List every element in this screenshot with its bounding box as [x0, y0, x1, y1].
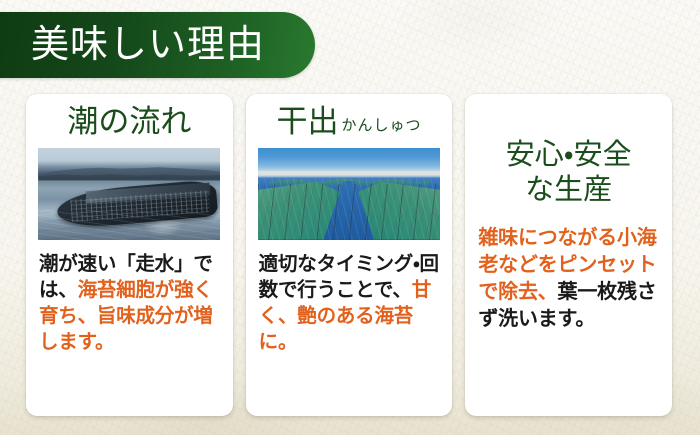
card-body-tide: 潮が速い「走水」では、海苔細胞が強く育ち、旨味成分が増します。	[39, 251, 221, 356]
feature-card-list: 潮の流れ 潮が速い「走水」では、海苔細胞が強く育ち、旨味成分が増します。 干出か…	[26, 94, 672, 416]
card-title-exposure-ruby: かんしゅつ	[342, 118, 422, 134]
card-title-safety-line2: な生産	[474, 173, 663, 208]
body-segment: 潮が速い「走水」	[39, 253, 193, 275]
nori-raft-photo	[38, 148, 220, 240]
card-title-safety-line1: 安心・安全	[474, 138, 663, 173]
nori-nets-photo	[258, 148, 440, 240]
horizon-haze	[258, 171, 440, 177]
card-body-exposure: 適切なタイミング・回数で行うことで、甘く、艶のある海苔に。	[259, 251, 441, 356]
feature-card-safety: 安心・安全な生産 雑味につながる小海老などをピンセットで除去、葉一枚残さず洗いま…	[465, 94, 672, 416]
page-title: 美味しい理由	[31, 26, 265, 64]
water-ripples	[38, 210, 220, 239]
header-banner: 美味しい理由	[0, 12, 315, 78]
feature-card-tide: 潮の流れ 潮が速い「走水」では、海苔細胞が強く育ち、旨味成分が増します。	[26, 94, 233, 416]
card-title-tide: 潮の流れ	[35, 106, 224, 139]
card-body-safety: 雑味につながる小海老などをピンセットで除去、葉一枚残さず洗います。	[478, 225, 660, 333]
card-title-exposure-text: 干出	[277, 104, 339, 139]
feature-card-exposure: 干出かんしゅつ 適切なタイミング・回数で行うことで、甘く、艶のある海苔に。	[246, 94, 453, 416]
support-poles	[258, 184, 440, 239]
card-title-safety: 安心・安全な生産	[474, 138, 663, 209]
promo-page: 美味しい理由 潮の流れ 潮が速い「走水」では、海苔細胞が強く育ち、旨味成分が増し…	[0, 0, 700, 435]
card-title-exposure: 干出かんしゅつ	[255, 106, 444, 139]
